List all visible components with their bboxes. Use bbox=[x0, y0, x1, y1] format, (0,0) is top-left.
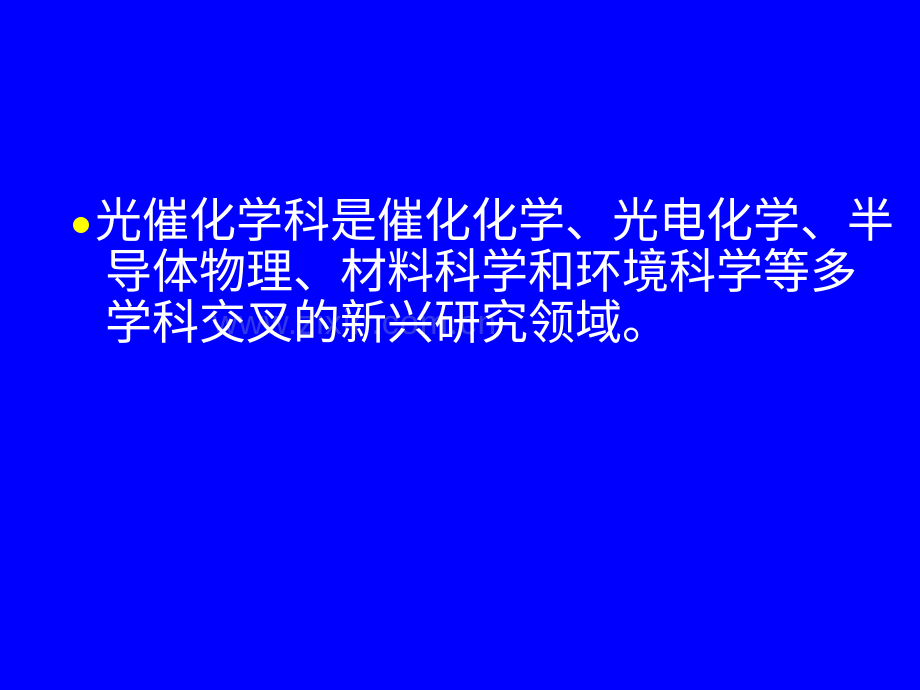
slide-body-content: 光催化学科是催化化学、光电化学、半 导体物理、材料科学和环境科学等多 学科交叉的… bbox=[62, 196, 902, 349]
bullet-text-line-1: 光催化学科是催化化学、光电化学、半 bbox=[62, 196, 902, 247]
bullet-list-item: 光催化学科是催化化学、光电化学、半 导体物理、材料科学和环境科学等多 学科交叉的… bbox=[62, 196, 902, 349]
presentation-slide: www.zixin.com.cn 光催化学科是催化化学、光电化学、半 导体物理、… bbox=[0, 0, 920, 690]
bullet-point-icon bbox=[73, 217, 89, 233]
bullet-text-line-2: 导体物理、材料科学和环境科学等多 bbox=[62, 247, 902, 298]
bullet-text-line-3: 学科交叉的新兴研究领域。 bbox=[62, 298, 902, 349]
